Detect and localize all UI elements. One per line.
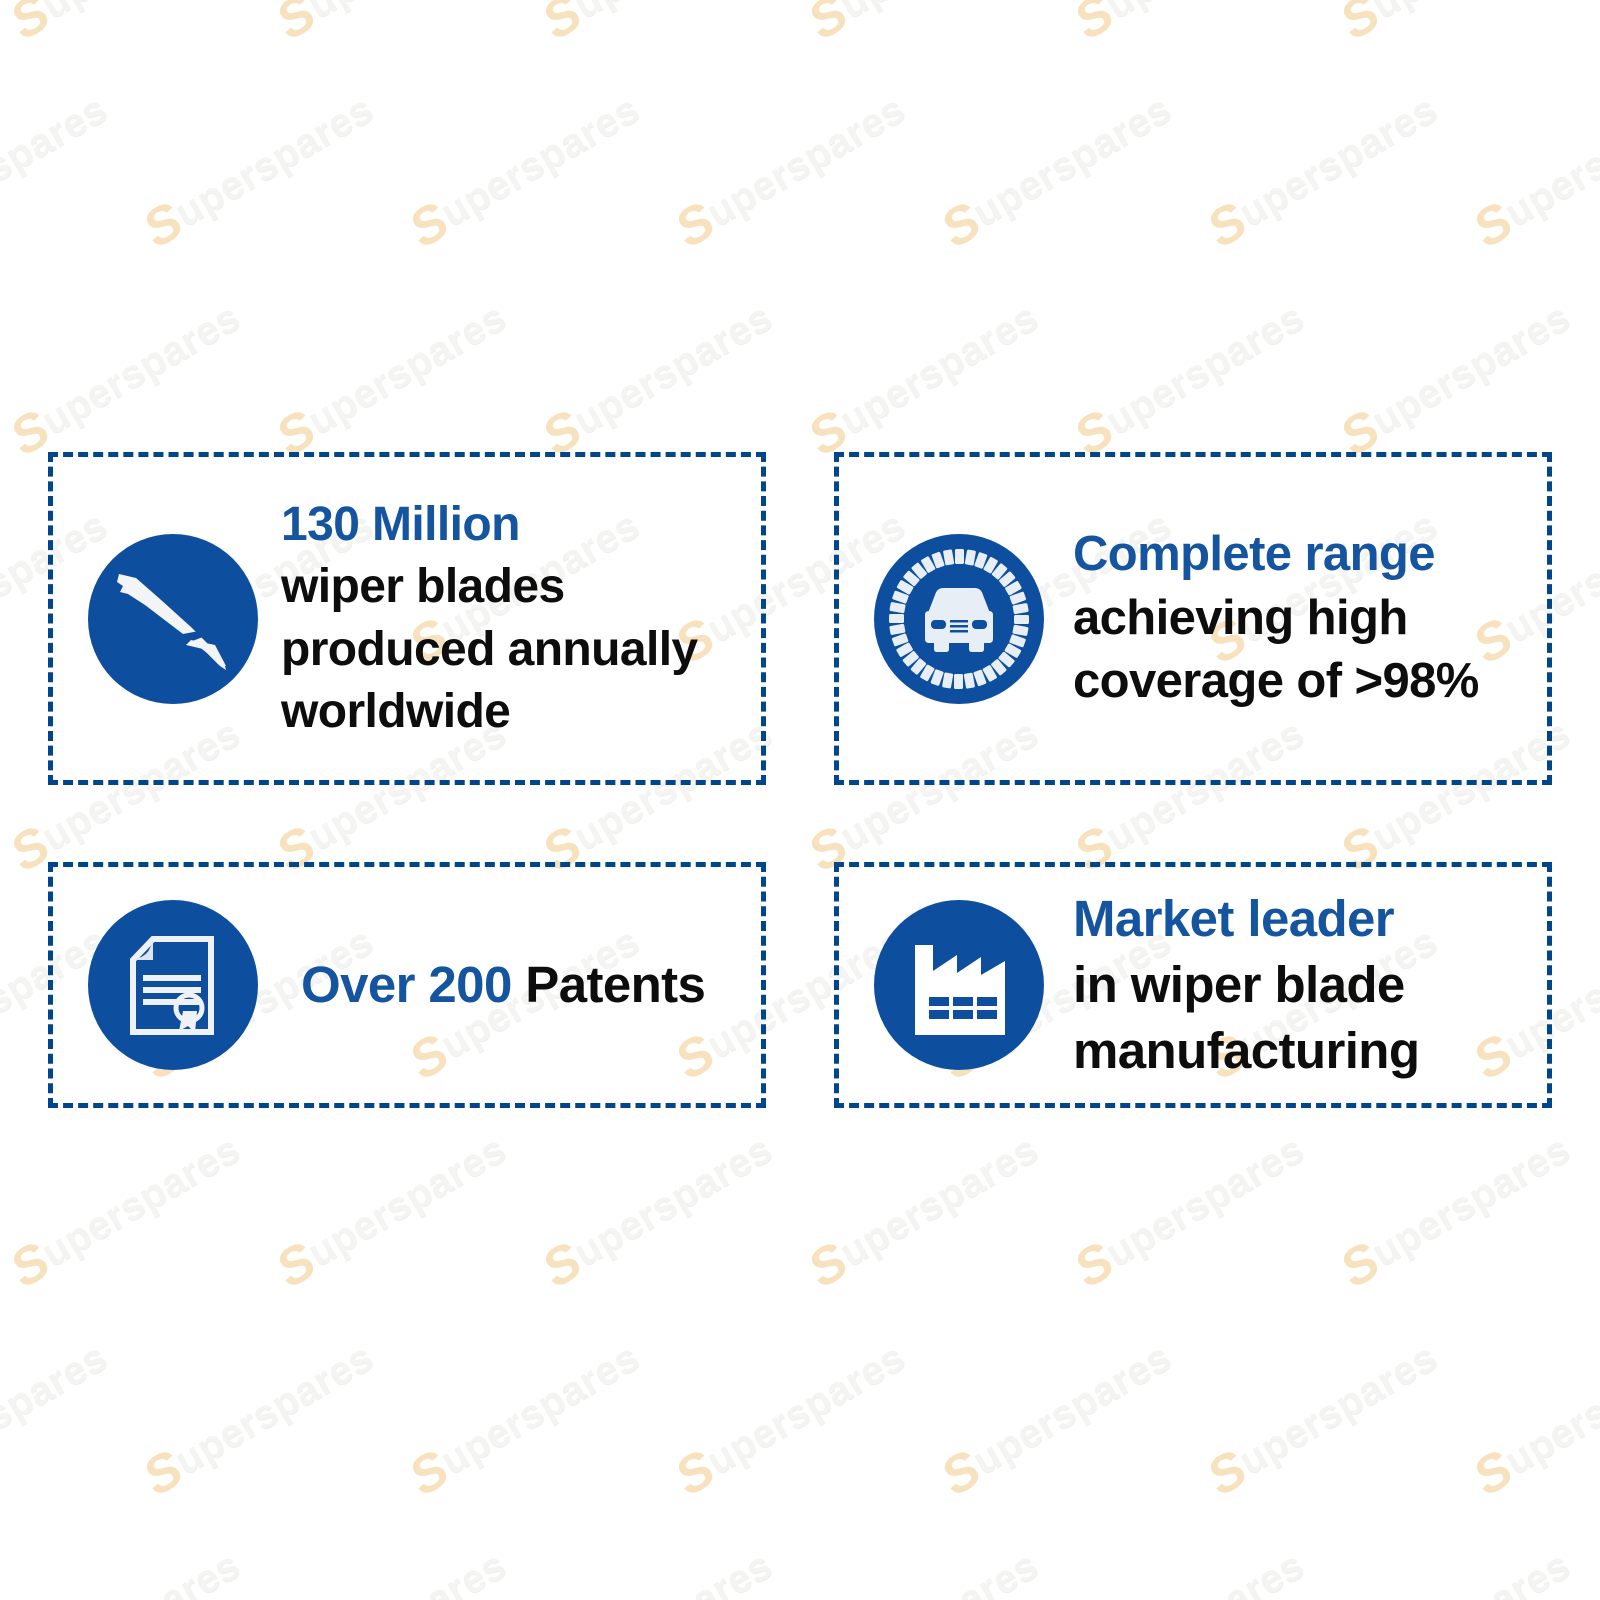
watermark-text: Superspares — [1463, 1328, 1600, 1508]
watermark-lead-letter: S — [1198, 191, 1257, 259]
watermark-lead-letter: S — [1597, 815, 1600, 883]
watermark-text: Superspares — [0, 0, 252, 52]
watermark-rest-letters: uperspares — [34, 0, 247, 27]
watermark-text: Superspares — [1197, 80, 1449, 260]
stat-line: Patents — [525, 956, 705, 1013]
watermark-text: Superspares — [532, 1536, 784, 1600]
watermark-text: Superspares — [1197, 1328, 1449, 1508]
watermark-text: Superspares — [665, 80, 917, 260]
watermark-text: Superspares — [1064, 288, 1316, 468]
stat-card-text: 130 Million wiper blades produced annual… — [281, 494, 751, 743]
watermark-rest-letters: uperspares — [300, 295, 513, 443]
watermark-lead-letter: S — [1331, 1231, 1390, 1299]
watermark-rest-letters: uperspares — [832, 295, 1045, 443]
watermark-rest-letters: uperspares — [34, 1127, 247, 1275]
stat-line: wiper blades — [281, 556, 751, 618]
watermark-text: Superspares — [0, 1120, 252, 1300]
watermark-rest-letters: uperspares — [300, 0, 513, 27]
watermark-lead-letter: S — [1331, 0, 1390, 51]
watermark-text: Superspares — [798, 1120, 1050, 1300]
watermark-rest-letters: uperspares — [566, 1543, 779, 1600]
watermark-rest-letters: uperspares — [1364, 0, 1577, 27]
watermark-lead-letter: S — [1198, 1439, 1257, 1507]
watermark-rest-letters: uperspares — [0, 87, 115, 235]
watermark-lead-letter: S — [134, 191, 193, 259]
stat-card-text: Complete range achieving high coverage o… — [1067, 523, 1537, 713]
stat-line: coverage of >98% — [1073, 650, 1537, 713]
stat-line: worldwide — [281, 681, 751, 743]
watermark-lead-letter: S — [267, 1231, 326, 1299]
watermark-rest-letters: uperspares — [1364, 295, 1577, 443]
watermark-text: Superspares — [931, 1328, 1183, 1508]
watermark-lead-letter: S — [1, 0, 60, 51]
watermark-text: Superspares — [1330, 0, 1582, 52]
watermark-rest-letters: uperspares — [832, 1543, 1045, 1600]
watermark-rest-letters: uperspares — [1098, 1127, 1311, 1275]
watermark-text: Superspares — [1596, 1536, 1600, 1600]
watermark-text: Superspares — [0, 288, 252, 468]
watermark-rest-letters: uperspares — [433, 1335, 646, 1483]
watermark-lead-letter: S — [1065, 0, 1124, 51]
watermark-text: Superspares — [532, 0, 784, 52]
watermark-lead-letter: S — [1, 1231, 60, 1299]
watermark-rest-letters: uperspares — [300, 1127, 513, 1275]
watermark-rest-letters: uperspares — [832, 1127, 1045, 1275]
watermark-rest-letters: uperspares — [699, 1335, 912, 1483]
watermark-lead-letter: S — [1597, 399, 1600, 467]
watermark-text: Superspares — [1596, 0, 1600, 52]
watermark-rest-letters: uperspares — [1364, 1127, 1577, 1275]
watermark-rest-letters: uperspares — [300, 1543, 513, 1600]
watermark-rest-letters: uperspares — [1231, 1335, 1444, 1483]
watermark-text: Superspares — [266, 1536, 518, 1600]
watermark-lead-letter: S — [1464, 191, 1523, 259]
watermark-lead-letter: S — [1464, 1439, 1523, 1507]
watermark-text: Superspares — [399, 1328, 651, 1508]
watermark-lead-letter: S — [400, 1439, 459, 1507]
watermark-rest-letters: uperspares — [1098, 0, 1311, 27]
watermark-text: Superspares — [266, 0, 518, 52]
watermark-lead-letter: S — [932, 191, 991, 259]
watermark-text: Superspares — [133, 80, 385, 260]
watermark-text: Superspares — [133, 1328, 385, 1508]
watermark-text: Superspares — [0, 80, 119, 260]
watermark-text: Superspares — [0, 1328, 119, 1508]
watermark-rest-letters: uperspares — [433, 87, 646, 235]
watermark-text: Superspares — [1463, 80, 1600, 260]
watermark-text: Superspares — [1064, 1120, 1316, 1300]
stat-card-text: Market leader in wiper blade manufacturi… — [1067, 886, 1537, 1084]
watermark-rest-letters: uperspares — [566, 1127, 779, 1275]
watermark-text: Superspares — [798, 1536, 1050, 1600]
watermark-rest-letters: uperspares — [167, 1335, 380, 1483]
watermark-lead-letter: S — [134, 1439, 193, 1507]
watermark-text: Superspares — [532, 288, 784, 468]
watermark-rest-letters: uperspares — [34, 295, 247, 443]
watermark-text: Superspares — [1596, 288, 1600, 468]
watermark-lead-letter: S — [1065, 1231, 1124, 1299]
watermark-text: Superspares — [665, 1328, 917, 1508]
stat-card-text: Over 200 Patents — [281, 952, 751, 1018]
watermark-rest-letters: uperspares — [167, 87, 380, 235]
watermark-rest-letters: uperspares — [1098, 295, 1311, 443]
stat-card-market-leader: Market leader in wiper blade manufacturi… — [834, 862, 1552, 1108]
watermark-text: Superspares — [0, 1536, 252, 1600]
watermark-lead-letter: S — [666, 1439, 725, 1507]
watermark-rest-letters: uperspares — [1497, 87, 1600, 235]
watermark-text: Superspares — [266, 288, 518, 468]
watermark-text: Superspares — [399, 80, 651, 260]
watermark-text: Superspares — [1596, 704, 1600, 884]
watermark-text: Superspares — [1330, 288, 1582, 468]
watermark-rest-letters: uperspares — [965, 1335, 1178, 1483]
stat-line: achieving high — [1073, 587, 1537, 650]
watermark-rest-letters: uperspares — [699, 87, 912, 235]
watermark-text: Superspares — [1330, 1536, 1582, 1600]
stat-card-patents: Over 200 Patents — [48, 862, 766, 1108]
watermark-rest-letters: uperspares — [1497, 1335, 1600, 1483]
stat-card-wiper-blades-produced: 130 Million wiper blades produced annual… — [48, 452, 766, 785]
wiper-blade-icon — [87, 533, 259, 705]
stat-line: in wiper blade — [1073, 952, 1537, 1018]
watermark-lead-letter: S — [666, 191, 725, 259]
watermark-lead-letter: S — [799, 0, 858, 51]
watermark-text: Superspares — [1596, 1120, 1600, 1300]
watermark-rest-letters: uperspares — [1098, 1543, 1311, 1600]
watermark-text: Superspares — [532, 1120, 784, 1300]
watermark-rest-letters: uperspares — [1364, 1543, 1577, 1600]
watermark-text: Superspares — [798, 0, 1050, 52]
stat-line-highlight: Over 200 — [301, 956, 525, 1013]
watermark-text: Superspares — [1064, 0, 1316, 52]
card-row-top: 130 Million wiper blades produced annual… — [48, 452, 1552, 785]
car-coverage-icon — [873, 533, 1045, 705]
watermark-rest-letters: uperspares — [566, 0, 779, 27]
watermark-lead-letter: S — [1597, 1231, 1600, 1299]
watermark-lead-letter: S — [400, 191, 459, 259]
watermark-rest-letters: uperspares — [0, 1335, 115, 1483]
watermark-text: Superspares — [1330, 1120, 1582, 1300]
watermark-text: Superspares — [798, 288, 1050, 468]
certificate-icon — [87, 899, 259, 1071]
stat-line-highlight: 130 Million — [281, 498, 520, 551]
watermark-lead-letter: S — [932, 1439, 991, 1507]
watermark-rest-letters: uperspares — [566, 295, 779, 443]
stat-line: manufacturing — [1073, 1018, 1537, 1084]
stat-line-highlight: Complete range — [1073, 527, 1435, 581]
watermark-text: Superspares — [266, 1120, 518, 1300]
stats-card-grid: 130 Million wiper blades produced annual… — [48, 452, 1552, 1108]
card-row-bottom: Over 200 Patents — [48, 862, 1552, 1108]
watermark-lead-letter: S — [533, 0, 592, 51]
watermark-lead-letter: S — [1597, 0, 1600, 51]
watermark-text: Superspares — [931, 80, 1183, 260]
stat-line-highlight: Market leader — [1073, 890, 1394, 947]
watermark-lead-letter: S — [533, 1231, 592, 1299]
factory-icon — [873, 899, 1045, 1071]
watermark-lead-letter: S — [267, 0, 326, 51]
watermark-rest-letters: uperspares — [832, 0, 1045, 27]
watermark-rest-letters: uperspares — [34, 1543, 247, 1600]
watermark-lead-letter: S — [799, 1231, 858, 1299]
stat-line: produced annually — [281, 619, 751, 681]
watermark-text: Superspares — [1064, 1536, 1316, 1600]
watermark-rest-letters: uperspares — [1231, 87, 1444, 235]
stat-card-complete-range-coverage: Complete range achieving high coverage o… — [834, 452, 1552, 785]
watermark-rest-letters: uperspares — [965, 87, 1178, 235]
